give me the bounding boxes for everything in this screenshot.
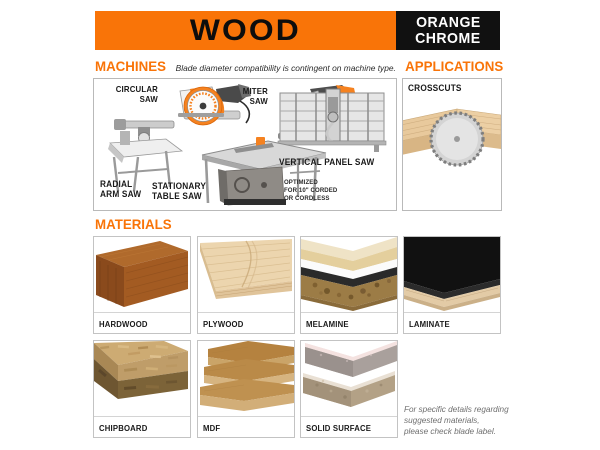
divider [301, 312, 397, 313]
divider [301, 416, 397, 417]
header-bar: WOOD ORANGE CHROME [95, 11, 500, 50]
material-label: LAMINATE [409, 319, 450, 329]
applications-section-title: APPLICATIONS [405, 58, 503, 74]
material-cell-melamine: MELAMINE [300, 236, 398, 334]
applications-panel: CROSSCUTS [402, 78, 502, 211]
header-category-block: WOOD [95, 11, 396, 50]
materials-section-title: MATERIALS [95, 216, 172, 232]
optimized-note: OPTIMIZED FOR 10" CORDED OR CORDLESS [284, 179, 337, 204]
brand-line-2: CHROME [415, 31, 480, 46]
material-cell-laminate: LAMINATE [403, 236, 501, 334]
footnote-line-2: suggested materials, [404, 415, 594, 426]
material-label: HARDWOOD [99, 319, 148, 329]
material-label: CHIPBOARD [99, 423, 147, 433]
machine-label-radial-arm-saw: RADIAL ARM SAW [100, 179, 141, 199]
laminate-swatch-icon [404, 237, 500, 311]
material-cell-hardwood: HARDWOOD [93, 236, 191, 334]
page-title: WOOD [190, 14, 301, 48]
solid-surface-swatch-icon [301, 341, 397, 415]
material-label: PLYWOOD [203, 319, 244, 329]
material-cell-chipboard: CHIPBOARD [93, 340, 191, 438]
machines-panel: CIRCULAR SAW MITER SAW VERTICAL PANEL SA… [93, 78, 397, 211]
brand-block: ORANGE CHROME [396, 11, 500, 50]
material-cell-mdf: MDF [197, 340, 295, 438]
divider [404, 312, 500, 313]
machine-label-vertical-panel-saw: VERTICAL PANEL SAW [279, 157, 374, 167]
wood-blade-spec-sheet: WOOD ORANGE CHROME MACHINES Blade diamet… [0, 0, 600, 450]
crosscuts-illustration-icon [402, 95, 501, 191]
footnote-line-1: For specific details regarding [404, 404, 594, 415]
material-cell-solid-surface: SOLID SURFACE [300, 340, 398, 438]
material-label: MDF [203, 423, 220, 433]
plywood-swatch-icon [198, 237, 294, 311]
divider [198, 312, 294, 313]
material-label: SOLID SURFACE [306, 423, 371, 433]
material-cell-plywood: PLYWOOD [197, 236, 295, 334]
machines-section-title: MACHINES [95, 58, 166, 74]
mdf-swatch-icon [198, 341, 294, 415]
application-label-crosscuts: CROSSCUTS [408, 83, 462, 93]
hardwood-swatch-icon [94, 237, 190, 311]
machine-label-stationary-table-saw: STATIONARY TABLE SAW [152, 181, 206, 201]
section-title-row: MACHINES Blade diameter compatibility is… [95, 56, 500, 74]
melamine-swatch-icon [301, 237, 397, 311]
chipboard-swatch-icon [94, 341, 190, 415]
divider [198, 416, 294, 417]
materials-footnote: For specific details regarding suggested… [404, 404, 594, 437]
machines-note: Blade diameter compatibility is continge… [170, 63, 400, 74]
machine-label-miter-saw: MITER SAW [224, 87, 268, 106]
footnote-line-3: please check blade label. [404, 426, 594, 437]
divider [94, 416, 190, 417]
brand-line-1: ORANGE [416, 15, 481, 30]
machine-label-circular-saw: CIRCULAR SAW [105, 85, 158, 104]
material-label: MELAMINE [306, 319, 349, 329]
divider [94, 312, 190, 313]
